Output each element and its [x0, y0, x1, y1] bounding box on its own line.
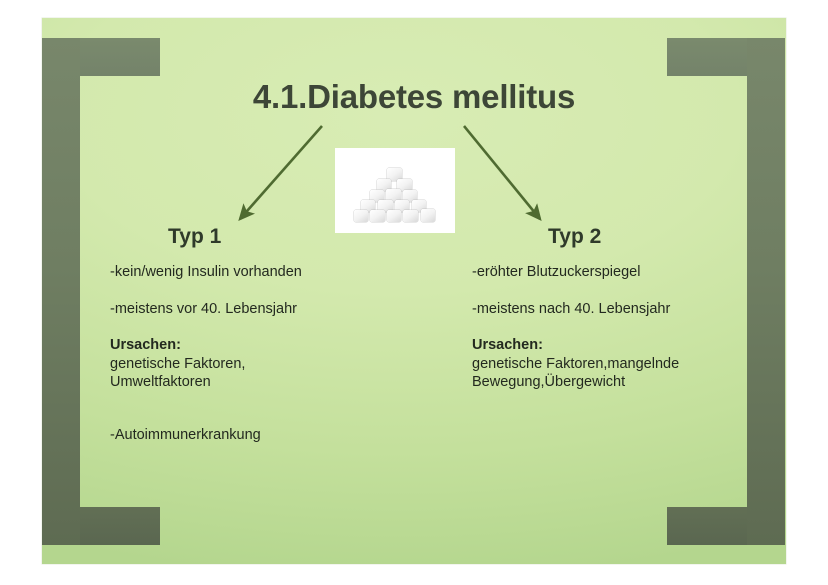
- label-ursachen-typ2: Ursachen:: [472, 336, 772, 355]
- slide-root: 4.1.Diabetes mellitus Typ 1 -kein/wenig …: [0, 0, 828, 585]
- bullet-typ1-insulin: -kein/wenig Insulin vorhanden: [110, 263, 440, 282]
- bullet-typ1-age: -meistens vor 40. Lebensjahr: [110, 300, 440, 319]
- bullet-typ2-bloodsugar: -eröhter Blutzuckerspiegel: [472, 263, 772, 282]
- column-heading-typ2: Typ 2: [548, 225, 601, 249]
- spacer-typ1: [110, 392, 440, 426]
- page-title: 4.1.Diabetes mellitus: [0, 78, 828, 116]
- sugar-cubes-photo: [335, 148, 455, 233]
- bullet-typ1-autoimmune: -Autoimmunerkrankung: [110, 426, 440, 445]
- bullet-typ2-age: -meistens nach 40. Lebensjahr: [472, 300, 772, 319]
- label-ursachen-typ1: Ursachen:: [110, 336, 440, 355]
- frame-corner-bottom-left: [80, 507, 160, 545]
- frame-corner-top-left: [80, 38, 160, 76]
- text-ursachen-typ1: genetische Faktoren, Umweltfaktoren: [110, 355, 440, 392]
- column-body-typ2: -eröhter Blutzuckerspiegel -meistens nac…: [472, 263, 772, 392]
- column-heading-typ1: Typ 1: [168, 225, 221, 249]
- frame-corner-bottom-right: [667, 507, 747, 545]
- frame-corner-top-right: [667, 38, 747, 76]
- column-body-typ1: -kein/wenig Insulin vorhanden -meistens …: [110, 263, 440, 444]
- text-ursachen-typ2: genetische Faktoren,mangelnde Bewegung,Ü…: [472, 355, 772, 392]
